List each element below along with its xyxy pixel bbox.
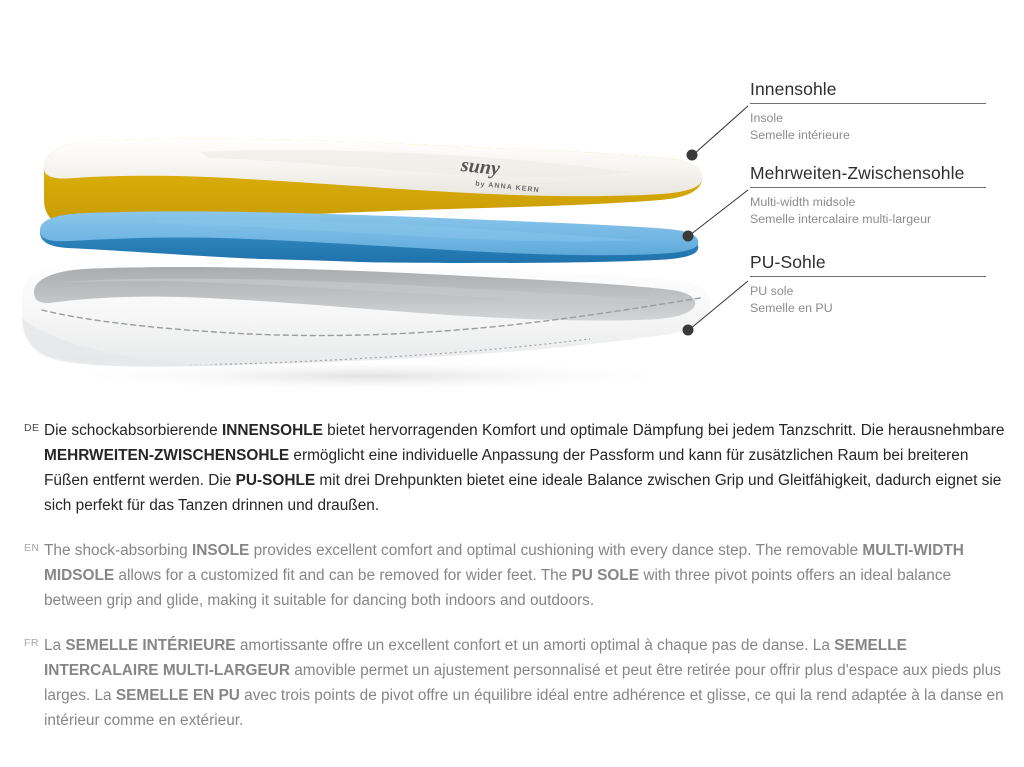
callout-pu-sole-subtitle-en: PU sole	[750, 283, 994, 300]
leader-line-insole	[694, 106, 748, 154]
callout-insole-subtitle-en: Insole	[750, 110, 994, 127]
callout-pu-sole: PU-Sohle PU sole Semelle en PU	[750, 251, 994, 316]
leader-dot-insole	[687, 150, 698, 161]
callout-insole-subtitle-fr: Semelle intérieure	[750, 127, 994, 144]
description-block: DE Die schockabsorbierende INNENSOHLE bi…	[0, 418, 1024, 753]
callout-midsole-subtitle-en: Multi-width midsole	[750, 194, 994, 211]
callout-insole: Innensohle Insole Semelle intérieure	[750, 78, 994, 143]
description-text-en: The shock-absorbing INSOLE provides exce…	[44, 538, 1024, 613]
callout-midsole-title: Mehrweiten-Zwischensohle	[750, 162, 994, 184]
leader-line-midsole	[690, 190, 748, 235]
callout-midsole: Mehrweiten-Zwischensohle Multi-width mid…	[750, 162, 994, 227]
callout-midsole-rule	[750, 187, 986, 188]
callout-pu-sole-subtitle-fr: Semelle en PU	[750, 300, 994, 317]
language-code-en: EN	[0, 538, 44, 554]
description-row-de: DE Die schockabsorbierende INNENSOHLE bi…	[0, 418, 1024, 518]
brand-logo-wordmark: suny	[459, 154, 501, 180]
callout-insole-title: Innensohle	[750, 78, 994, 100]
callout-midsole-subtitle-fr: Semelle intercalaire multi-largeur	[750, 211, 994, 228]
leader-dot-pusole	[683, 325, 694, 336]
leader-dot-midsole	[683, 231, 694, 242]
description-text-de: Die schockabsorbierende INNENSOHLE biete…	[44, 418, 1024, 518]
language-code-fr: FR	[0, 633, 44, 649]
callout-pu-sole-title: PU-Sohle	[750, 251, 994, 273]
description-row-fr: FR La SEMELLE INTÉRIEURE amortissante of…	[0, 633, 1024, 733]
language-code-de: DE	[0, 418, 44, 434]
callout-insole-rule	[750, 103, 986, 104]
callout-pu-sole-rule	[750, 276, 986, 277]
layer-midsole	[40, 211, 698, 263]
description-row-en: EN The shock-absorbing INSOLE provides e…	[0, 538, 1024, 613]
description-text-fr: La SEMELLE INTÉRIEURE amortissante offre…	[44, 633, 1024, 733]
layer-pu-sole	[22, 258, 710, 392]
